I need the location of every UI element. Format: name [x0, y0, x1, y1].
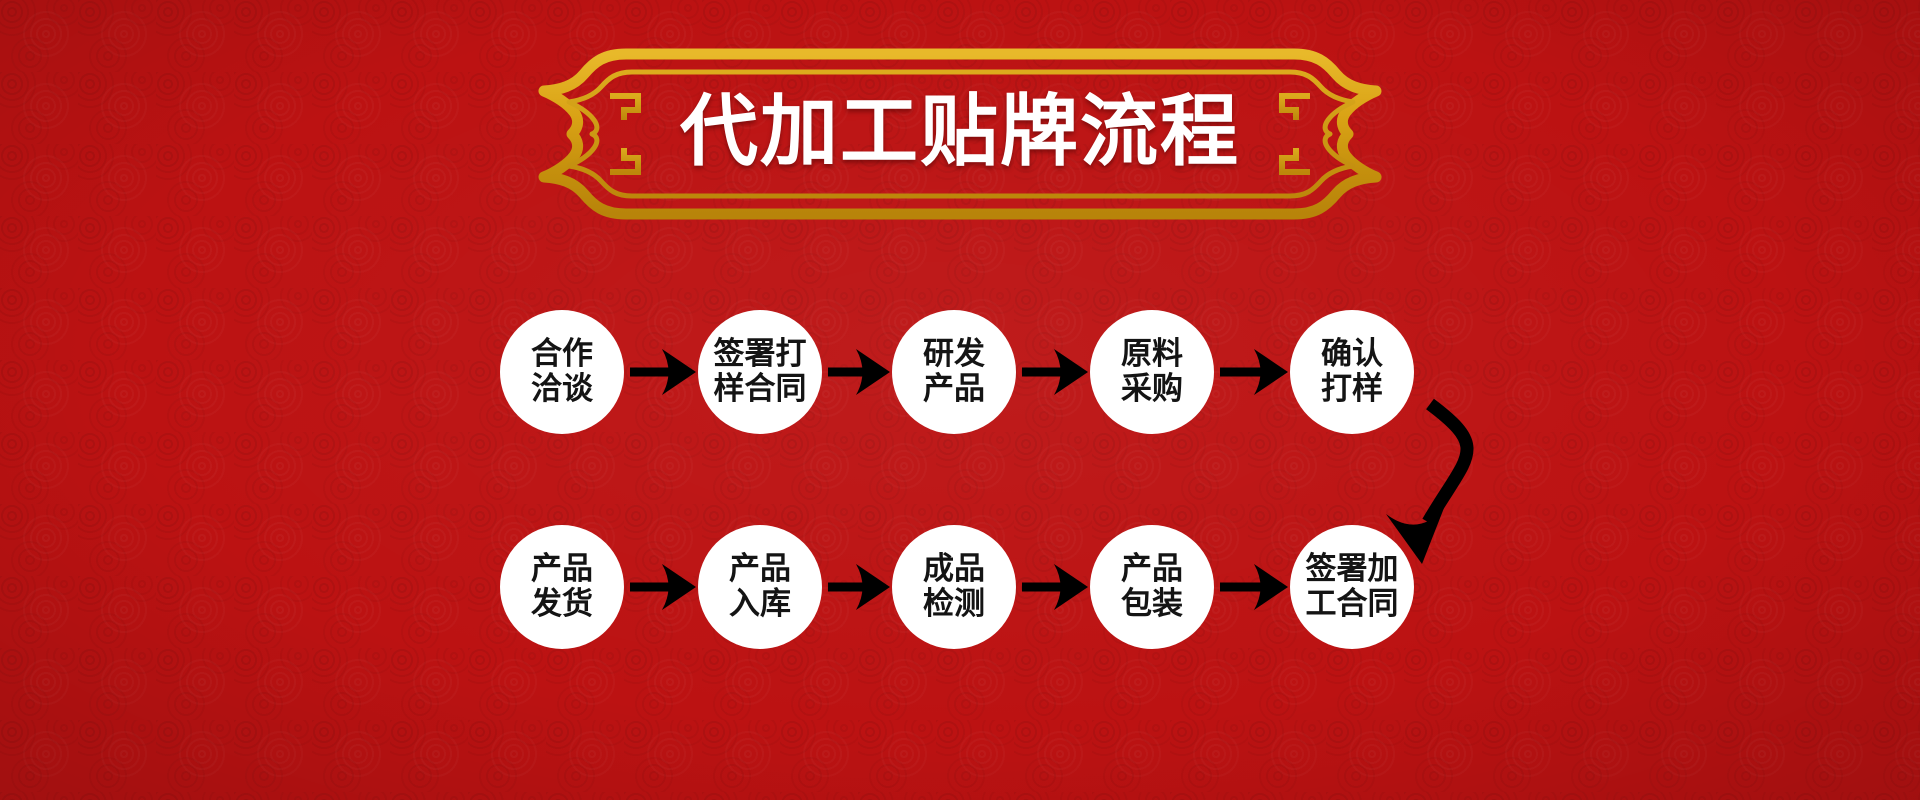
flow-node-node-10[interactable]	[1290, 525, 1414, 649]
flow-node-node-9[interactable]	[1090, 525, 1214, 649]
flow-node-node-6[interactable]	[500, 525, 624, 649]
flow-node-node-8[interactable]	[892, 525, 1016, 649]
flow-node-node-4[interactable]	[1090, 310, 1214, 434]
flow-node-node-3[interactable]	[892, 310, 1016, 434]
flow-node-node-2[interactable]	[698, 310, 822, 434]
flow-node-node-7[interactable]	[698, 525, 822, 649]
page-title: 代加工贴牌流程	[480, 38, 1440, 230]
flow-node-node-1[interactable]	[500, 310, 624, 434]
title-banner: 代加工贴牌流程	[480, 38, 1440, 230]
infographic-canvas: 代加工贴牌流程 合作洽谈签署打样合同研发产品原料采购确认打样产品发货产品入库成品…	[0, 0, 1920, 800]
flow-node-node-5[interactable]	[1290, 310, 1414, 434]
